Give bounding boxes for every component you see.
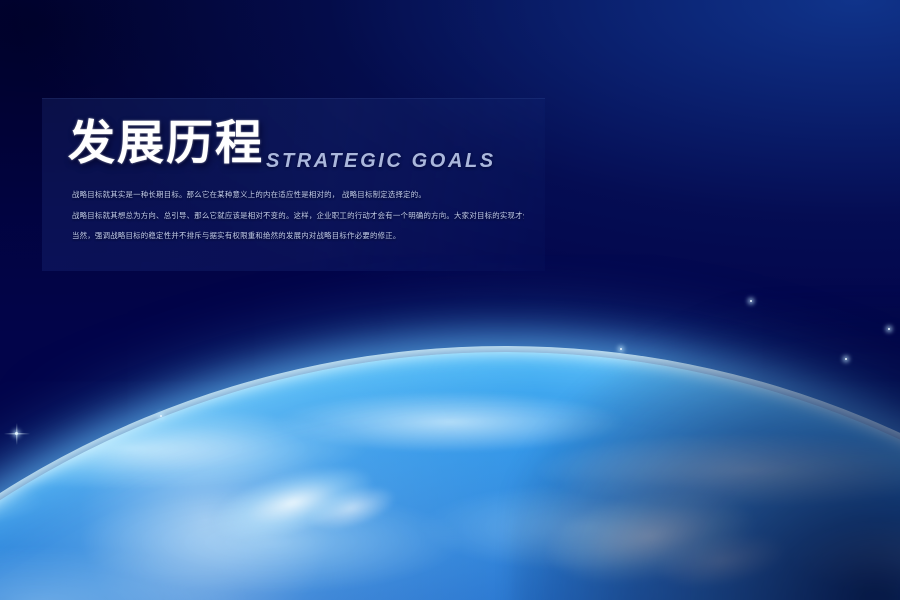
star-upper-left-icon <box>160 415 162 417</box>
star-right-lower-icon <box>845 358 847 360</box>
description-paragraphs: 战略目标就其实是一种长期目标。那么它在某种意义上的内在适应性是相对的， 战略目标… <box>72 187 524 249</box>
poster-canvas: 发展历程 STRATEGIC GOALS 战略目标就其实是一种长期目标。那么它在… <box>0 0 900 600</box>
earth-scene <box>0 0 900 600</box>
description-line-1: 战略目标就其实是一种长期目标。那么它在某种意义上的内在适应性是相对的， 战略目标… <box>72 187 524 204</box>
description-line-2: 战略目标就其想总为方向、总引导、那么它就应该是相对不变的。这样，企业职工的行动才… <box>72 208 524 225</box>
page-subtitle: STRATEGIC GOALS <box>266 150 496 173</box>
star-left-flare-icon <box>15 432 18 435</box>
star-mid-right-icon <box>750 300 752 302</box>
earth-terminator-shadow <box>510 300 900 600</box>
star-center-right-icon <box>620 348 622 350</box>
page-title: 发展历程 <box>68 118 264 170</box>
headline-block: 发展历程 STRATEGIC GOALS <box>68 118 264 170</box>
description-line-3: 当然，强调战略目标的稳定性并不排斥与据实有权限重和绝然的发展内对战略目标作必要的… <box>72 228 524 245</box>
star-right-edge-icon <box>888 328 890 330</box>
